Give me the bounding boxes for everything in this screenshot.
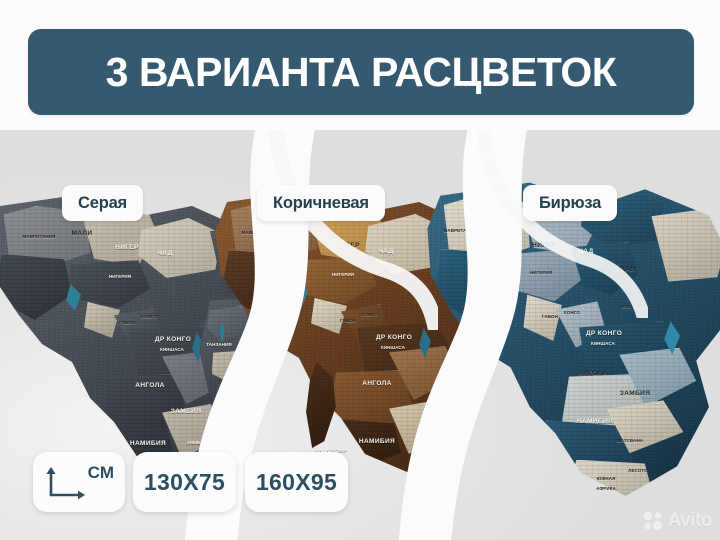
variant-label-gray-text: Серая <box>78 194 127 213</box>
map-country-label: ЮЖНАЯ <box>585 476 627 481</box>
board-edge-highlight-2 <box>478 130 648 318</box>
map-country-label: КИНШАСА <box>150 347 194 352</box>
variant-label-brown-text: Коричневая <box>273 194 369 213</box>
map-country-label: НИГЕРИЯ <box>96 274 144 279</box>
variant-label-gray[interactable]: Серая <box>62 185 143 221</box>
map-country-label: ЧАД <box>150 250 180 257</box>
map-country-label: ЗАМБИЯ <box>613 390 657 397</box>
promo-banner: 3 ВАРИАНТА РАСЦВЕТОК <box>28 29 694 115</box>
map-country-label: ДР КОНГО <box>579 330 629 337</box>
size-option-160x95[interactable]: 160X95 <box>245 452 348 512</box>
size-option-130x75-text: 130X75 <box>144 469 225 496</box>
map-country-label: КИНШАСА <box>581 341 625 346</box>
map-country-label: НАМИБИЯ <box>571 418 619 425</box>
promo-image: МАВРИТАНИЯМАЛИНИГЕРЧАДНИГЕРИЯГАБОНКОНГОД… <box>0 0 720 540</box>
map-country-label: АНГОЛА <box>571 370 615 377</box>
map-country-label: КИНШАСА <box>371 345 415 350</box>
product-photo-collage: МАВРИТАНИЯМАЛИНИГЕРЧАДНИГЕРИЯГАБОНКОНГОД… <box>0 130 720 540</box>
map-country-label: ГАБОН <box>110 320 144 325</box>
map-country-label: АНГОЛА <box>355 380 399 387</box>
size-unit-label: СМ <box>88 463 115 483</box>
map-country-label: МАЛИ <box>62 230 102 237</box>
axes-arrows-icon <box>42 462 88 502</box>
map-country-label: ЗАМБИЯ <box>164 408 208 415</box>
map-country-label: ДР КОНГО <box>148 336 198 343</box>
promo-banner-title: 3 ВАРИАНТА РАСЦВЕТОК <box>106 49 617 96</box>
size-unit-badge[interactable]: СМ <box>33 452 125 512</box>
variant-label-brown[interactable]: Коричневая <box>257 185 385 221</box>
board-edge-highlight <box>268 130 438 330</box>
map-country-label: АНГОЛА <box>128 382 172 389</box>
map-country-label: МАВРИТАНИЯ <box>10 234 68 239</box>
map-country-label: ЛЕСОТО <box>621 468 655 473</box>
size-option-130x75[interactable]: 130X75 <box>133 452 236 512</box>
map-country-label: БОТСВАНА <box>607 438 653 443</box>
size-option-160x95-text: 160X95 <box>256 469 337 496</box>
map-country-label: КОНГО <box>136 314 162 319</box>
map-country-label: НАМИБИЯ <box>124 440 172 447</box>
map-country-label: НАМИБИЯ <box>353 438 401 445</box>
variant-label-turquoise-text: Бирюза <box>539 194 601 213</box>
map-country-label: ДР КОНГО <box>369 334 419 341</box>
variant-label-turquoise[interactable]: Бирюза <box>523 185 617 221</box>
map-country-label: АФРИКА <box>585 486 627 491</box>
map-country-label: НИГЕР <box>104 244 150 251</box>
